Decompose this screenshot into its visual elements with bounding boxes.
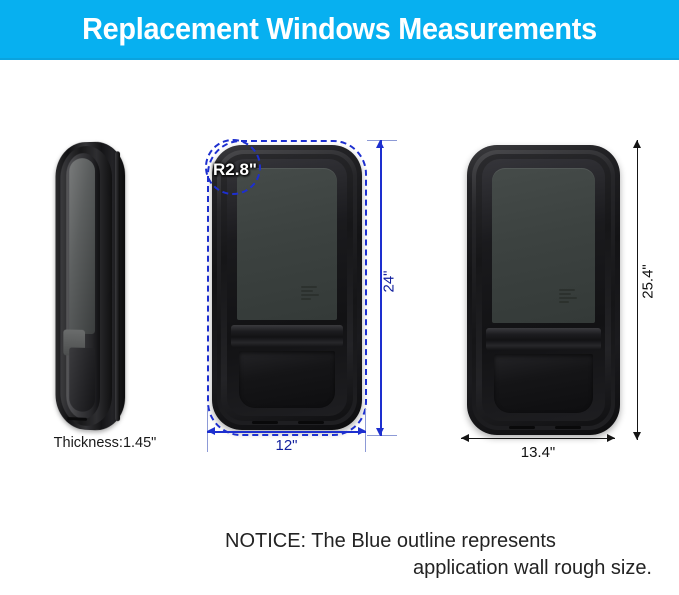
rough-height-arrow-top [376,140,384,148]
corner-radius-label: R2.8" [213,160,257,180]
overall-width-label: 13.4" [461,444,615,461]
rough-width-label: 12" [207,437,366,454]
side-outer-edge [115,151,120,421]
overall-width-arrow-left [461,434,469,442]
rough-bottom-vent-left [252,421,278,424]
side-lower-pane [69,347,95,412]
overall-glass-pane [492,168,595,323]
overall-sash-divider [486,328,601,350]
overall-bottom-vent-right [555,426,581,429]
side-frame-outer [55,141,125,432]
rough-height-arrow-bottom [376,428,384,436]
rough-width-arrow-left [207,427,215,435]
side-profile-view [55,142,125,430]
overall-height-label: 25.4" [640,257,657,307]
overall-width-arrow-right [607,434,615,442]
rough-width-arrow-right [358,427,366,435]
overall-height-arrow-bottom [633,432,641,440]
overall-height-arrow-top [633,140,641,148]
overall-frame-bezel [482,159,605,421]
rough-glass-pane [237,168,337,320]
rough-frame-bezel [227,159,347,416]
infographic-root: Replacement Windows Measurements Thickne… [0,0,679,595]
overall-bottom-vent-left [509,426,535,429]
glass-etch-mark [559,289,579,309]
diagram-stage: Thickness:1.45" R2.8" [0,60,679,595]
thickness-label: Thickness:1.45" [20,435,190,451]
notice-line-2: application wall rough size. [225,555,670,582]
overall-lower-screen [494,354,593,413]
rough-sash-divider [231,325,343,347]
front-view-overall-size [467,145,620,435]
rough-height-label: 24" [381,262,398,302]
rough-lower-screen [239,351,335,408]
header-bar: Replacement Windows Measurements [0,0,679,60]
rough-bottom-vent-right [298,421,324,424]
side-bottom-vent [67,417,87,421]
side-glass-pane [69,158,95,334]
notice-block: NOTICE: The Blue outline represents appl… [225,528,670,582]
page-title: Replacement Windows Measurements [24,0,655,58]
glass-etch-mark [301,286,321,306]
notice-line-1: NOTICE: The Blue outline represents [225,528,670,555]
